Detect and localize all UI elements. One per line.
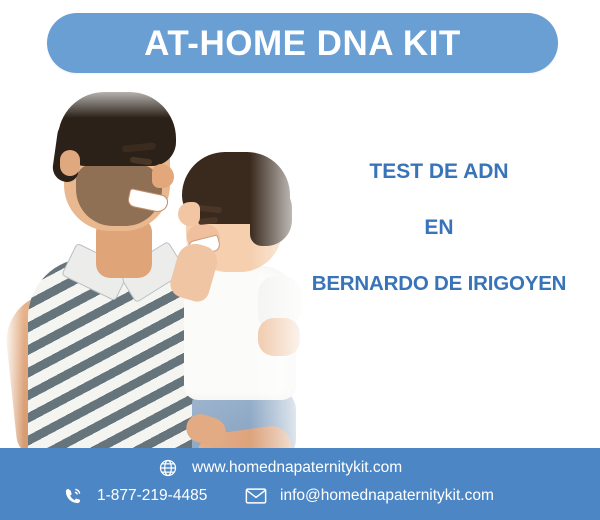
- hero-photo-illustration: [0, 78, 320, 450]
- header-banner: AT-HOME DNA KIT: [47, 13, 558, 73]
- footer-email[interactable]: info@homednapaternitykit.com: [245, 485, 494, 507]
- headline-line-1: TEST DE ADN: [278, 160, 600, 184]
- man-nose: [152, 164, 174, 188]
- phone-label: 1-877-219-4485: [97, 487, 207, 505]
- email-label: info@homednapaternitykit.com: [280, 487, 494, 505]
- poster-root: AT-HOME DNA KIT: [0, 0, 600, 520]
- man-ear: [60, 150, 80, 176]
- headline-line-3: BERNARDO DE IRIGOYEN: [278, 272, 600, 296]
- photo-fade-left: [0, 78, 24, 450]
- phone-icon: [62, 485, 84, 507]
- footer-phone[interactable]: 1-877-219-4485: [62, 485, 207, 507]
- child-nose: [178, 202, 200, 226]
- footer-website[interactable]: www.homednapaternitykit.com: [157, 457, 402, 479]
- footer-contact-bar: www.homednapaternitykit.com 1-877-219-44…: [0, 448, 600, 520]
- page-title: AT-HOME DNA KIT: [144, 26, 461, 61]
- photo-fade-top: [0, 78, 320, 118]
- location-headline: TEST DE ADN EN BERNARDO DE IRIGOYEN: [278, 160, 600, 296]
- website-label: www.homednapaternitykit.com: [192, 459, 402, 477]
- hero-photo: [0, 78, 320, 450]
- headline-line-2: EN: [278, 216, 600, 240]
- envelope-icon: [245, 485, 267, 507]
- globe-icon: [157, 457, 179, 479]
